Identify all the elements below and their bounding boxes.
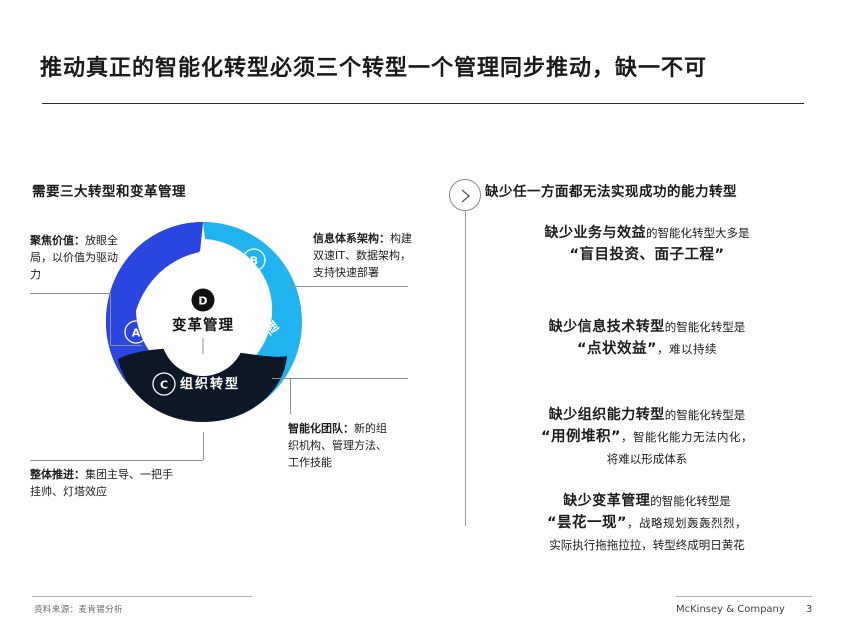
page-title: 推动真正的智能化转型必须三个转型一个管理同步推动，缺一不可 (40, 50, 810, 82)
title-divider (42, 103, 804, 104)
risk-block-1-lead: 缺少业务与效益的智能化转型大多是 (472, 222, 822, 244)
callout-intelligent-team: 智能化团队：新的组织机构、管理方法、工作技能 (288, 420, 392, 471)
leader-line-d-drop (203, 432, 204, 460)
callout-focus-value: 聚焦价值：放眼全局，以价值为驱动力 (30, 232, 118, 283)
callout-intelligent-team-title: 智能化团队： (288, 422, 354, 435)
callout-overall-rollout-title: 整体推进： (30, 468, 85, 481)
leader-line-a-drop (110, 293, 111, 345)
svg-text:A: A (132, 327, 141, 340)
right-section-heading: 缺少任一方面都无法实现成功的能力转型 (485, 180, 737, 200)
petal-label-organization: 组织转型 (180, 376, 240, 392)
risk-block-2-tail: ，难以持续 (657, 342, 717, 356)
risk-block-business-value: 缺少业务与效益的智能化转型大多是 “盲目投资、面子工程” (472, 222, 822, 268)
svg-text:B: B (250, 255, 258, 268)
risk-block-4-quote: “昙花一现” (547, 515, 627, 531)
callout-information-architecture: 信息体系架构：构建双速IT、数据架构，支持快速部署 (313, 230, 413, 281)
risk-block-1-lead-bold: 缺少业务与效益 (545, 225, 647, 241)
risk-block-1-quote: “盲目投资、面子工程” (472, 244, 822, 267)
callout-information-architecture-title: 信息体系架构： (313, 232, 390, 245)
center-label-change-management: 变革管理 (172, 316, 234, 334)
leader-line-a-foot (110, 345, 142, 346)
risk-block-3-tail2: 将难以形成体系 (472, 450, 822, 468)
risk-block-4-tail: ，战略规划轰轰烈烈， (627, 516, 747, 530)
risk-block-4-lead-rest: 的智能化转型是 (650, 494, 731, 508)
badge-d: D (192, 289, 215, 312)
risk-block-2-lead: 缺少信息技术转型的智能化转型是 (472, 316, 822, 338)
leader-line-c (272, 378, 408, 379)
source-note: 资料来源：麦肯锡分析 (34, 603, 123, 615)
leader-line-d (30, 460, 203, 461)
risk-block-4-quote-line: “昙花一现”，战略规划轰轰烈烈， (472, 512, 822, 535)
slide-canvas: 推动真正的智能化转型必须三个转型一个管理同步推动，缺一不可 需要三大转型和变革管… (0, 0, 845, 634)
callout-focus-value-title: 聚焦价值： (30, 234, 85, 247)
risk-block-3-tail: ，智能化能力无法内化， (621, 430, 753, 444)
risk-block-4-lead: 缺少变革管理的智能化转型是 (472, 490, 822, 512)
three-transformation-diagram: 业务转型 技术转型 组织转型 A B C D 变革管理 (88, 212, 318, 442)
leader-line-c-drop (290, 378, 291, 414)
brand-label: McKinsey & Company (676, 604, 785, 615)
risk-block-2-lead-bold: 缺少信息技术转型 (549, 319, 665, 335)
left-section-heading: 需要三大转型和变革管理 (32, 180, 186, 200)
risk-block-2-quote-line: “点状效益”，难以持续 (472, 338, 822, 361)
svg-text:D: D (198, 295, 207, 308)
risk-block-it-transformation: 缺少信息技术转型的智能化转型是 “点状效益”，难以持续 (472, 316, 822, 362)
risk-block-4-lead-bold: 缺少变革管理 (563, 493, 650, 509)
risk-block-3-quote-line: “用例堆积”，智能化能力无法内化， (472, 426, 822, 449)
risk-block-organization-capability: 缺少组织能力转型的智能化转型是 “用例堆积”，智能化能力无法内化， 将难以形成体… (472, 404, 822, 468)
leader-line-b (288, 286, 408, 287)
footer-divider-right (676, 596, 812, 597)
callout-overall-rollout: 整体推进：集团主导、一把手挂帅、灯塔效应 (30, 466, 178, 500)
chevron-right-icon (459, 188, 473, 204)
risk-block-3-lead: 缺少组织能力转型的智能化转型是 (472, 404, 822, 426)
column-divider (465, 206, 466, 526)
footer-divider-left (32, 596, 252, 597)
leader-line-a (30, 293, 110, 294)
arrow-chip (449, 179, 481, 211)
risk-block-2-quote: “点状效益” (577, 341, 657, 357)
svg-text:C: C (160, 379, 168, 392)
page-number: 3 (806, 604, 812, 615)
risk-block-2-lead-rest: 的智能化转型是 (665, 320, 746, 334)
risk-block-1-lead-rest: 的智能化转型大多是 (646, 226, 750, 240)
risk-block-3-lead-rest: 的智能化转型是 (665, 408, 746, 422)
risk-block-3-quote: “用例堆积” (541, 429, 621, 445)
risk-block-change-management: 缺少变革管理的智能化转型是 “昙花一现”，战略规划轰轰烈烈， 实际执行拖拖拉拉，… (472, 490, 822, 554)
risk-block-3-lead-bold: 缺少组织能力转型 (549, 407, 665, 423)
risk-block-4-tail2: 实际执行拖拖拉拉，转型终成明日黄花 (472, 536, 822, 554)
